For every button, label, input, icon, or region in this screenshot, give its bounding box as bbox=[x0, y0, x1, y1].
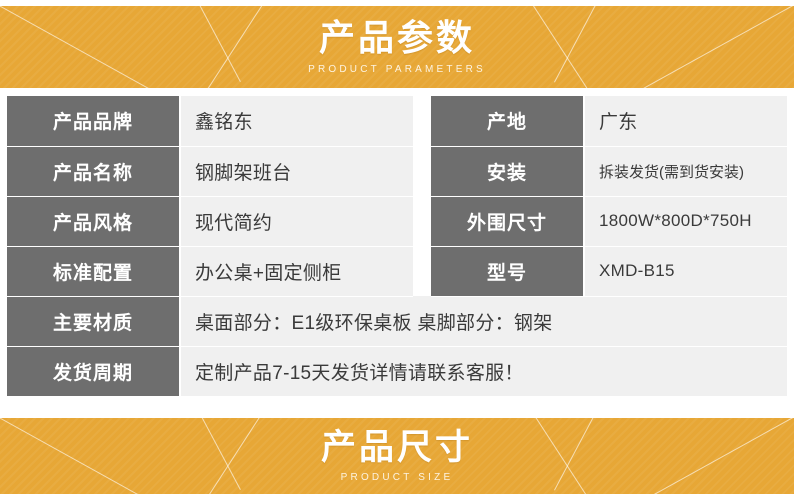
column-spacer bbox=[413, 96, 431, 146]
param-label: 标准配置 bbox=[7, 246, 180, 296]
banner-title-top: 产品参数 bbox=[319, 19, 475, 57]
column-spacer bbox=[413, 196, 431, 246]
param-value: 1800W*800D*750H bbox=[584, 196, 787, 246]
table-row: 产品名称 钢脚架班台 安装 拆装发货(需到货安装) bbox=[7, 146, 787, 196]
param-value: 鑫铭东 bbox=[180, 96, 413, 146]
banner-subtitle-top: PRODUCT PARAMETERS bbox=[308, 64, 486, 75]
param-value: 钢脚架班台 bbox=[180, 146, 413, 196]
param-value: 定制产品7-15天发货详情请联系客服！ bbox=[180, 346, 787, 396]
product-parameters-banner: 产品参数 PRODUCT PARAMETERS bbox=[0, 6, 794, 88]
param-label: 发货周期 bbox=[7, 346, 180, 396]
table-row: 发货周期 定制产品7-15天发货详情请联系客服！ bbox=[7, 346, 787, 396]
product-size-banner: 产品尺寸 PRODUCT SIZE bbox=[0, 418, 794, 494]
product-parameters-table: 产品品牌 鑫铭东 产地 广东 产品名称 钢脚架班台 安装 拆装发货(需到货安装)… bbox=[7, 96, 787, 397]
param-label: 主要材质 bbox=[7, 296, 180, 346]
param-value: XMD-B15 bbox=[584, 246, 787, 296]
column-spacer bbox=[413, 146, 431, 196]
table-row: 标准配置 办公桌+固定侧柜 型号 XMD-B15 bbox=[7, 246, 787, 296]
param-label: 产品风格 bbox=[7, 196, 180, 246]
table-row: 产品风格 现代简约 外围尺寸 1800W*800D*750H bbox=[7, 196, 787, 246]
param-label: 安装 bbox=[431, 146, 584, 196]
banner-title-bottom: 产品尺寸 bbox=[321, 429, 473, 466]
banner-subtitle-bottom: PRODUCT SIZE bbox=[341, 472, 454, 483]
param-value: 拆装发货(需到货安装) bbox=[584, 146, 787, 196]
param-label: 型号 bbox=[431, 246, 584, 296]
param-label: 产地 bbox=[431, 96, 584, 146]
param-value: 桌面部分：E1级环保桌板 桌脚部分：钢架 bbox=[180, 296, 787, 346]
table-row: 产品品牌 鑫铭东 产地 广东 bbox=[7, 96, 787, 146]
param-value: 现代简约 bbox=[180, 196, 413, 246]
column-spacer bbox=[413, 246, 431, 296]
param-label: 产品品牌 bbox=[7, 96, 180, 146]
param-value: 广东 bbox=[584, 96, 787, 146]
param-label: 外围尺寸 bbox=[431, 196, 584, 246]
param-value: 办公桌+固定侧柜 bbox=[180, 246, 413, 296]
param-label: 产品名称 bbox=[7, 146, 180, 196]
table-row: 主要材质 桌面部分：E1级环保桌板 桌脚部分：钢架 bbox=[7, 296, 787, 346]
